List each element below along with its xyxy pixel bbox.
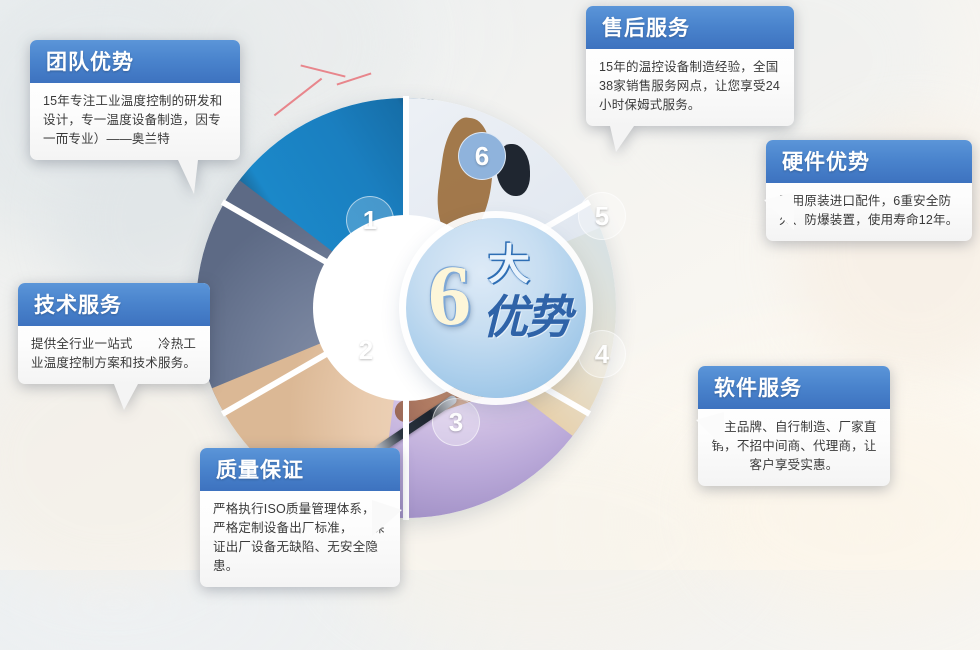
callout-title-after-sales: 售后服务 [586, 6, 794, 49]
segment-number-3: 3 [449, 407, 463, 438]
center-big-char: 大 [488, 244, 530, 286]
segment-badge-3[interactable]: 3 [432, 398, 480, 446]
callout-tail [114, 384, 138, 410]
callout-tail [696, 412, 724, 448]
callout-body-tech: 提供全行业一站式 冷热工业温度控制方案和技术服务。 [18, 326, 210, 384]
callout-title-team: 团队优势 [30, 40, 240, 83]
center-script-text: 优势 [482, 294, 570, 342]
callout-box: 质量保证 严格执行ISO质量管理体系，严格定制设备出厂标准， 保证出厂设备无缺陷… [200, 448, 400, 587]
callout-title-quality: 质量保证 [200, 448, 400, 491]
callout-box: 团队优势 15年专注工业温度控制的研发和设计，专一温度设备制造，因专一而专业）—… [30, 40, 240, 160]
callout-team[interactable]: 团队优势 15年专注工业温度控制的研发和设计，专一温度设备制造，因专一而专业）—… [30, 40, 240, 160]
callout-title-hardware: 硬件优势 [766, 140, 972, 183]
segment-badge-5[interactable]: 5 [578, 192, 626, 240]
segment-number-2: 2 [359, 335, 373, 366]
callout-title-tech: 技术服务 [18, 283, 210, 326]
segment-number-5: 5 [595, 201, 609, 232]
callout-software[interactable]: 软件服务 自主品牌、自行制造、厂家直销，不招中间商、代理商，让客户享受实惠。 [698, 366, 890, 486]
callout-tech[interactable]: 技术服务 提供全行业一站式 冷热工业温度控制方案和技术服务。 [18, 283, 210, 384]
callout-body-quality: 严格执行ISO质量管理体系，严格定制设备出厂标准， 保证出厂设备无缺陷、无安全隐… [200, 491, 400, 587]
callout-body-software: 自主品牌、自行制造、厂家直销，不招中间商、代理商，让客户享受实惠。 [698, 409, 890, 486]
segment-badge-1[interactable]: 1 [346, 196, 394, 244]
segment-number-1: 1 [363, 205, 377, 236]
segment-number-4: 4 [595, 339, 609, 370]
segment-number-6: 6 [475, 141, 489, 172]
callout-box: 售后服务 15年的温控设备制造经验，全国38家销售服务网点，让您享受24小时保姆… [586, 6, 794, 126]
callout-box: 硬件优势 采用原装进口配件，6重安全防火、防爆装置，使用寿命12年。 [766, 140, 972, 241]
callout-quality[interactable]: 质量保证 严格执行ISO质量管理体系，严格定制设备出厂标准， 保证出厂设备无缺陷… [200, 448, 400, 587]
callout-body-after-sales: 15年的温控设备制造经验，全国38家销售服务网点，让您享受24小时保姆式服务。 [586, 49, 794, 126]
segment-badge-6[interactable]: 6 [458, 132, 506, 180]
callout-body-hardware: 采用原装进口配件，6重安全防火、防爆装置，使用寿命12年。 [766, 183, 972, 241]
callout-hardware[interactable]: 硬件优势 采用原装进口配件，6重安全防火、防爆装置，使用寿命12年。 [766, 140, 972, 241]
segment-badge-4[interactable]: 4 [578, 330, 626, 378]
callout-box: 技术服务 提供全行业一站式 冷热工业温度控制方案和技术服务。 [18, 283, 210, 384]
center-badge: 6 大 优势 [406, 218, 586, 398]
callout-after-sales[interactable]: 售后服务 15年的温控设备制造经验，全国38家销售服务网点，让您享受24小时保姆… [586, 6, 794, 126]
callout-tail [372, 500, 402, 536]
center-number: 6 [428, 252, 471, 338]
callout-title-software: 软件服务 [698, 366, 890, 409]
callout-body-team: 15年专注工业温度控制的研发和设计，专一温度设备制造，因专一而专业）——奥兰特 [30, 83, 240, 160]
callout-tail [610, 126, 634, 152]
segment-badge-2[interactable]: 2 [342, 326, 390, 374]
infographic-canvas: 1 2 3 4 5 6 6 大 优势 团队优势 15年专注工业温度控制的研发和设… [0, 0, 980, 570]
callout-tail [178, 160, 198, 194]
callout-tail [764, 192, 794, 230]
callout-box: 软件服务 自主品牌、自行制造、厂家直销，不招中间商、代理商，让客户享受实惠。 [698, 366, 890, 486]
